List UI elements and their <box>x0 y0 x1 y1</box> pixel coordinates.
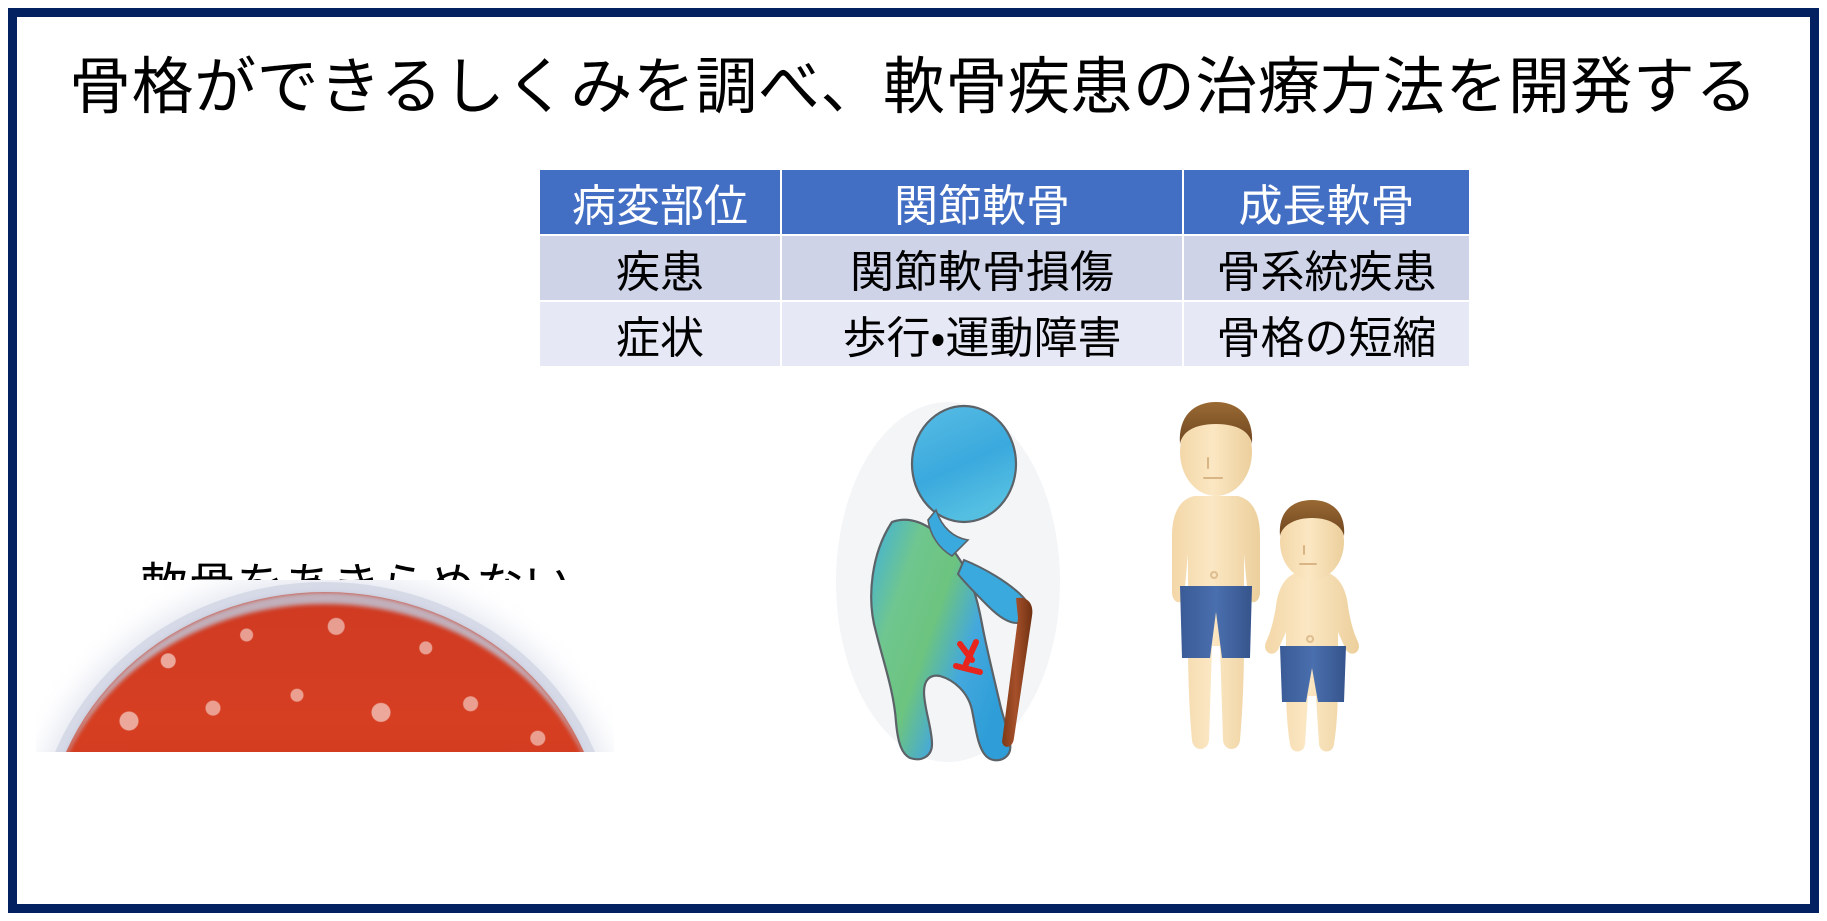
disease-comparison-table: 病変部位 関節軟骨 成長軟骨 疾患 関節軟骨損傷 骨系統疾患 症状 歩行・運動障… <box>538 168 1471 368</box>
cartilage-micrograph <box>36 580 614 752</box>
table-cell-symptom-growth: 骨格の短縮 <box>1184 302 1469 366</box>
table-cell-symptom-joint: 歩行・運動障害 <box>782 302 1182 366</box>
shorter-child-figure <box>1265 500 1359 752</box>
table-header-cell-site: 病変部位 <box>540 170 780 234</box>
table-cell-row-label-symptom: 症状 <box>540 302 780 366</box>
table-cell-row-label-disease: 疾患 <box>540 236 780 300</box>
slide-canvas: 骨格ができるしくみを調べ、軟骨疾患の治療方法を開発する 病変部位 関節軟骨 成長… <box>0 0 1827 921</box>
table-cell-disease-growth: 骨系統疾患 <box>1184 236 1469 300</box>
taller-child-figure <box>1172 402 1260 749</box>
table-header-cell-joint-cartilage: 関節軟骨 <box>782 170 1182 234</box>
cartilage-rim-highlight <box>45 592 605 752</box>
elderly-head-shape <box>912 406 1016 522</box>
table-header-row: 病変部位 関節軟骨 成長軟骨 <box>540 170 1469 234</box>
table-row: 疾患 関節軟骨損傷 骨系統疾患 <box>540 236 1469 300</box>
table-row: 症状 歩行・運動障害 骨格の短縮 <box>540 302 1469 366</box>
two-children-height-comparison-illustration <box>1150 396 1420 762</box>
elderly-person-with-cane-illustration <box>832 392 1064 762</box>
table-cell-disease-joint: 関節軟骨損傷 <box>782 236 1182 300</box>
table-header-cell-growth-cartilage: 成長軟骨 <box>1184 170 1469 234</box>
page-title: 骨格ができるしくみを調べ、軟骨疾患の治療方法を開発する <box>0 54 1827 122</box>
